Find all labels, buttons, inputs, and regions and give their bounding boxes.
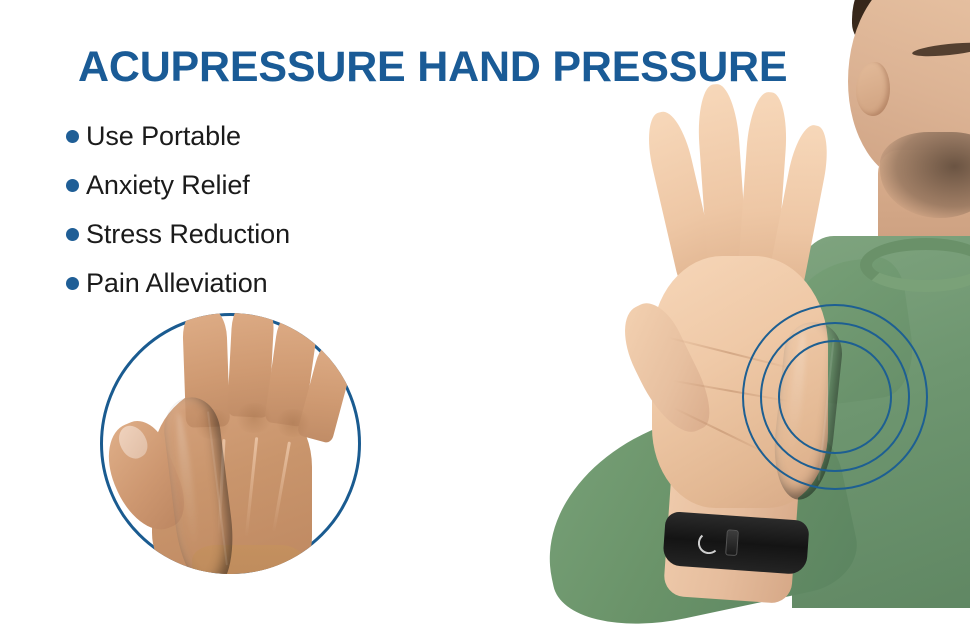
list-item: Use Portable xyxy=(66,112,486,161)
bullet-dot-icon xyxy=(66,228,79,241)
product-closeup-circle xyxy=(100,313,361,574)
wrist-watch xyxy=(662,511,809,575)
knuckle-shading xyxy=(234,403,274,433)
watch-buckle xyxy=(725,529,739,556)
product-closeup-image xyxy=(100,313,361,574)
benefits-list: Use Portable Anxiety Relief Stress Reduc… xyxy=(66,112,486,308)
device-highlight xyxy=(173,412,201,552)
list-item: Anxiety Relief xyxy=(66,161,486,210)
knuckle-shading xyxy=(274,409,312,437)
benefit-label: Use Portable xyxy=(86,122,241,152)
benefit-label: Stress Reduction xyxy=(86,220,290,250)
promo-banner: ACUPRESSURE HAND PRESSURE Use Portable A… xyxy=(0,0,970,600)
bullet-dot-icon xyxy=(66,179,79,192)
benefit-label: Anxiety Relief xyxy=(86,171,250,201)
bullet-dot-icon xyxy=(66,130,79,143)
pulse-ring-outer xyxy=(742,304,928,490)
bullet-dot-icon xyxy=(66,277,79,290)
model-photo xyxy=(560,0,970,600)
list-item: Pain Alleviation xyxy=(66,259,486,308)
benefit-label: Pain Alleviation xyxy=(86,269,268,299)
list-item: Stress Reduction xyxy=(66,210,486,259)
ear xyxy=(856,62,890,116)
